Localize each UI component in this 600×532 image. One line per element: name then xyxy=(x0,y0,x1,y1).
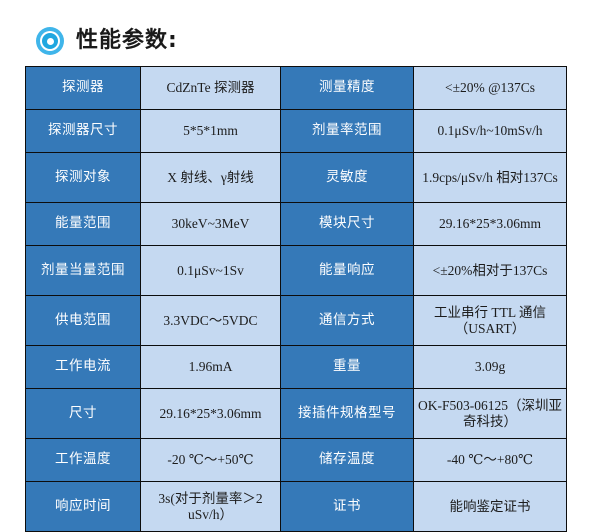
spec-label-cell-text: 能量响应 xyxy=(284,263,410,279)
spec-value-cell: 29.16*25*3.06mm xyxy=(414,203,567,246)
table-row: 供电范围3.3VDC～5VDC通信方式工业串行 TTL 通信（USART） xyxy=(26,296,567,346)
table-row: 能量范围30keV~3MeV模块尺寸29.16*25*3.06mm xyxy=(26,203,567,246)
spec-label-cell-text: 响应时间 xyxy=(29,499,137,515)
spec-label-cell: 剂量当量范围 xyxy=(26,246,141,296)
table-row: 探测器尺寸5*5*1mm剂量率范围0.1μSv/h~10mSv/h xyxy=(26,110,567,153)
spec-value-cell: 能响鉴定证书 xyxy=(414,482,567,532)
spec-label-cell: 储存温度 xyxy=(281,439,414,482)
spec-label-cell: 供电范围 xyxy=(26,296,141,346)
spec-value-cell-text: 29.16*25*3.06mm xyxy=(417,216,563,232)
spec-label-cell-text: 重量 xyxy=(284,359,410,375)
spec-value-cell-text: -20 ℃～+50℃ xyxy=(144,452,277,468)
spec-value-cell-text: 3s(对于剂量率＞2 uSv/h） xyxy=(144,491,277,523)
spec-label-cell: 模块尺寸 xyxy=(281,203,414,246)
spec-value-cell-text: 30keV~3MeV xyxy=(144,216,277,232)
spec-value-cell-text: <±20%相对于137Cs xyxy=(417,263,563,279)
spec-value-cell-text: 0.1μSv/h~10mSv/h xyxy=(417,123,563,139)
spec-value-cell-text: 0.1μSv~1Sv xyxy=(144,263,277,279)
spec-label-cell-text: 储存温度 xyxy=(284,452,410,468)
spec-label-cell-text: 模块尺寸 xyxy=(284,216,410,232)
table-row: 工作温度-20 ℃～+50℃储存温度-40 ℃～+80℃ xyxy=(26,439,567,482)
spec-label-cell: 测量精度 xyxy=(281,67,414,110)
spec-label-cell: 通信方式 xyxy=(281,296,414,346)
spec-value-cell-text: 能响鉴定证书 xyxy=(417,499,563,515)
spec-label-cell-text: 接插件规格型号 xyxy=(284,406,410,422)
spec-label-cell: 接插件规格型号 xyxy=(281,389,414,439)
spec-label-cell: 探测器 xyxy=(26,67,141,110)
spec-label-cell: 响应时间 xyxy=(26,482,141,532)
spec-label-cell: 剂量率范围 xyxy=(281,110,414,153)
spec-label-cell: 工作电流 xyxy=(26,346,141,389)
spec-label-cell-text: 探测器 xyxy=(29,80,137,96)
spec-label-cell-text: 剂量率范围 xyxy=(284,123,410,139)
spec-label-cell-text: 工作电流 xyxy=(29,359,137,375)
spec-label-cell-text: 证书 xyxy=(284,499,410,515)
spec-table: 探测器CdZnTe 探测器测量精度<±20% @137Cs探测器尺寸5*5*1m… xyxy=(25,66,567,532)
spec-label-cell: 工作温度 xyxy=(26,439,141,482)
spec-label-cell: 能量范围 xyxy=(26,203,141,246)
table-row: 工作电流1.96mA重量3.09g xyxy=(26,346,567,389)
spec-value-cell-text: 1.9cps/μSv/h 相对137Cs xyxy=(417,170,563,186)
spec-value-cell: X 射线、γ射线 xyxy=(141,153,281,203)
spec-value-cell: 3.09g xyxy=(414,346,567,389)
spec-value-cell-text: 5*5*1mm xyxy=(144,123,277,139)
spec-label-cell-text: 剂量当量范围 xyxy=(29,263,137,279)
spec-label-cell: 灵敏度 xyxy=(281,153,414,203)
table-row: 剂量当量范围0.1μSv~1Sv能量响应<±20%相对于137Cs xyxy=(26,246,567,296)
spec-value-cell-text: 1.96mA xyxy=(144,359,277,375)
spec-value-cell-text: CdZnTe 探测器 xyxy=(144,80,277,96)
spec-value-cell-text: 工业串行 TTL 通信（USART） xyxy=(417,305,563,337)
spec-value-cell: 0.1μSv~1Sv xyxy=(141,246,281,296)
spec-label-cell-text: 供电范围 xyxy=(29,313,137,329)
spec-label-cell-text: 工作温度 xyxy=(29,452,137,468)
spec-value-cell-text: <±20% @137Cs xyxy=(417,80,563,96)
spec-value-cell: 工业串行 TTL 通信（USART） xyxy=(414,296,567,346)
table-row: 探测对象X 射线、γ射线灵敏度1.9cps/μSv/h 相对137Cs xyxy=(26,153,567,203)
spec-label-cell: 探测器尺寸 xyxy=(26,110,141,153)
spec-value-cell: 3s(对于剂量率＞2 uSv/h） xyxy=(141,482,281,532)
spec-value-cell: 30keV~3MeV xyxy=(141,203,281,246)
spec-label-cell-text: 尺寸 xyxy=(29,406,137,422)
table-row: 探测器CdZnTe 探测器测量精度<±20% @137Cs xyxy=(26,67,567,110)
spec-value-cell-text: 29.16*25*3.06mm xyxy=(144,406,277,422)
spec-sheet-page: 性能参数: 探测器CdZnTe 探测器测量精度<±20% @137Cs探测器尺寸… xyxy=(0,0,600,531)
spec-label-cell: 探测对象 xyxy=(26,153,141,203)
target-bullet-icon xyxy=(36,27,64,55)
spec-value-cell-text: -40 ℃～+80℃ xyxy=(417,452,563,468)
spec-value-cell: 0.1μSv/h~10mSv/h xyxy=(414,110,567,153)
table-row: 响应时间3s(对于剂量率＞2 uSv/h）证书能响鉴定证书 xyxy=(26,482,567,532)
spec-value-cell-text: 3.09g xyxy=(417,359,563,375)
spec-label-cell: 尺寸 xyxy=(26,389,141,439)
spec-table-container: 探测器CdZnTe 探测器测量精度<±20% @137Cs探测器尺寸5*5*1m… xyxy=(25,66,566,532)
spec-value-cell-text: OK-F503-06125（深圳亚奇科技） xyxy=(417,398,563,430)
spec-value-cell: <±20%相对于137Cs xyxy=(414,246,567,296)
table-row: 尺寸29.16*25*3.06mm接插件规格型号OK-F503-06125（深圳… xyxy=(26,389,567,439)
spec-table-body: 探测器CdZnTe 探测器测量精度<±20% @137Cs探测器尺寸5*5*1m… xyxy=(26,67,567,532)
spec-value-cell: CdZnTe 探测器 xyxy=(141,67,281,110)
spec-label-cell: 证书 xyxy=(281,482,414,532)
spec-value-cell: 1.9cps/μSv/h 相对137Cs xyxy=(414,153,567,203)
spec-value-cell-text: 3.3VDC～5VDC xyxy=(144,313,277,329)
page-heading: 性能参数: xyxy=(36,18,178,64)
spec-label-cell: 能量响应 xyxy=(281,246,414,296)
spec-value-cell: 1.96mA xyxy=(141,346,281,389)
spec-value-cell: 3.3VDC～5VDC xyxy=(141,296,281,346)
spec-label-cell-text: 探测器尺寸 xyxy=(29,123,137,139)
spec-label-cell-text: 灵敏度 xyxy=(284,170,410,186)
spec-value-cell: -20 ℃～+50℃ xyxy=(141,439,281,482)
spec-value-cell: 5*5*1mm xyxy=(141,110,281,153)
spec-label-cell-text: 探测对象 xyxy=(29,170,137,186)
spec-value-cell: <±20% @137Cs xyxy=(414,67,567,110)
bullet-core-dot xyxy=(47,38,54,45)
spec-label-cell-text: 能量范围 xyxy=(29,216,137,232)
spec-value-cell: 29.16*25*3.06mm xyxy=(141,389,281,439)
spec-value-cell: -40 ℃～+80℃ xyxy=(414,439,567,482)
spec-value-cell-text: X 射线、γ射线 xyxy=(144,170,277,186)
spec-label-cell-text: 测量精度 xyxy=(284,80,410,96)
page-title: 性能参数: xyxy=(76,30,178,52)
spec-label-cell: 重量 xyxy=(281,346,414,389)
spec-label-cell-text: 通信方式 xyxy=(284,313,410,329)
spec-value-cell: OK-F503-06125（深圳亚奇科技） xyxy=(414,389,567,439)
